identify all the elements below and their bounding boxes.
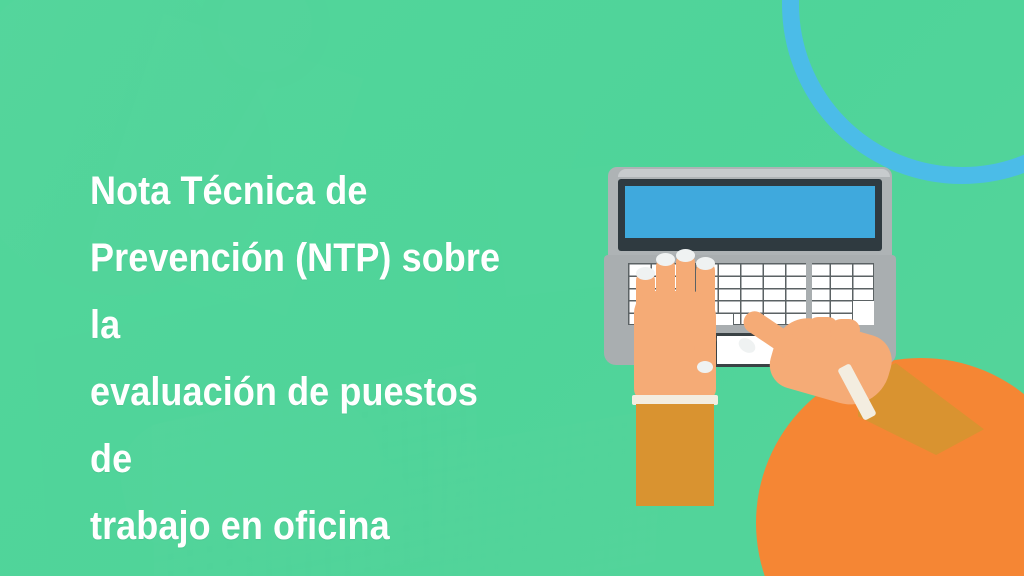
title-line-2: Prevención (NTP) sobre la [90, 225, 522, 359]
right-hand [754, 317, 954, 467]
left-hand-nail-1 [636, 267, 655, 280]
page-title: Nota Técnica de Prevención (NTP) sobre l… [90, 158, 522, 560]
laptop-screen [625, 186, 875, 238]
slide-canvas: Nota Técnica de Prevención (NTP) sobre l… [0, 0, 1024, 576]
left-hand-nail-3 [676, 249, 695, 262]
right-hand-knuckle-2 [830, 319, 860, 341]
left-hand-sleeve [636, 404, 714, 506]
laptop-illustration [604, 167, 896, 365]
left-hand [620, 253, 730, 413]
laptop-lid-highlight [618, 169, 890, 177]
left-hand-nail-4 [696, 257, 715, 270]
left-hand-nail-2 [656, 253, 675, 266]
title-line-4: trabajo en oficina [90, 493, 522, 560]
title-line-1: Nota Técnica de [90, 158, 522, 225]
numpad-separator [806, 263, 812, 325]
title-line-3: evaluación de puestos de [90, 359, 522, 493]
left-hand-thumb-nail [697, 361, 713, 373]
